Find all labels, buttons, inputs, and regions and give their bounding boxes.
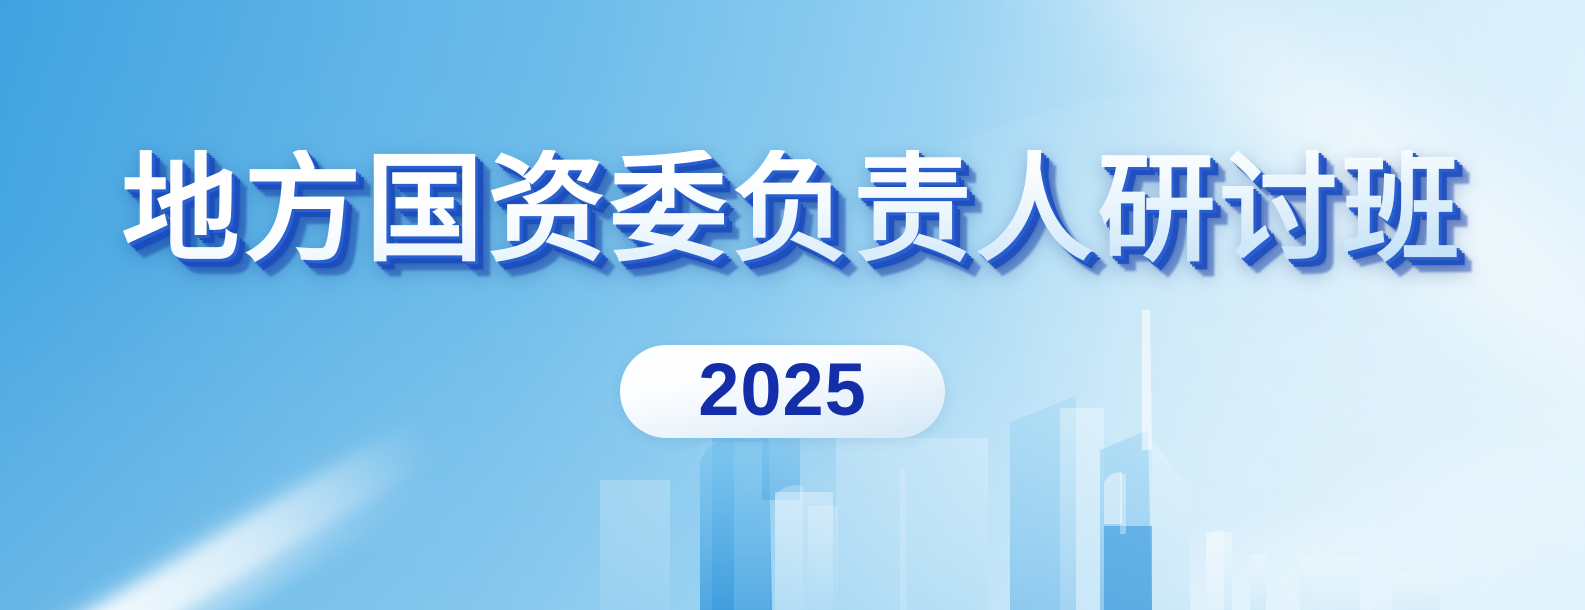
light-ribbon-streak (0, 350, 480, 610)
year-badge: 2025 (620, 345, 945, 438)
ribbon-layer-white (0, 417, 442, 610)
ribbon-layer-pale (0, 423, 431, 610)
page-title: 地方国资委负责人研讨班 (0, 150, 1585, 268)
year-badge-label: 2025 (698, 353, 867, 427)
background-vertical-wash (0, 0, 1585, 610)
light-streak-top-right-wide (800, 0, 1585, 610)
event-banner: 地方国资委负责人研讨班 2025 (0, 0, 1585, 610)
ribbon-layer-blue (0, 476, 413, 610)
